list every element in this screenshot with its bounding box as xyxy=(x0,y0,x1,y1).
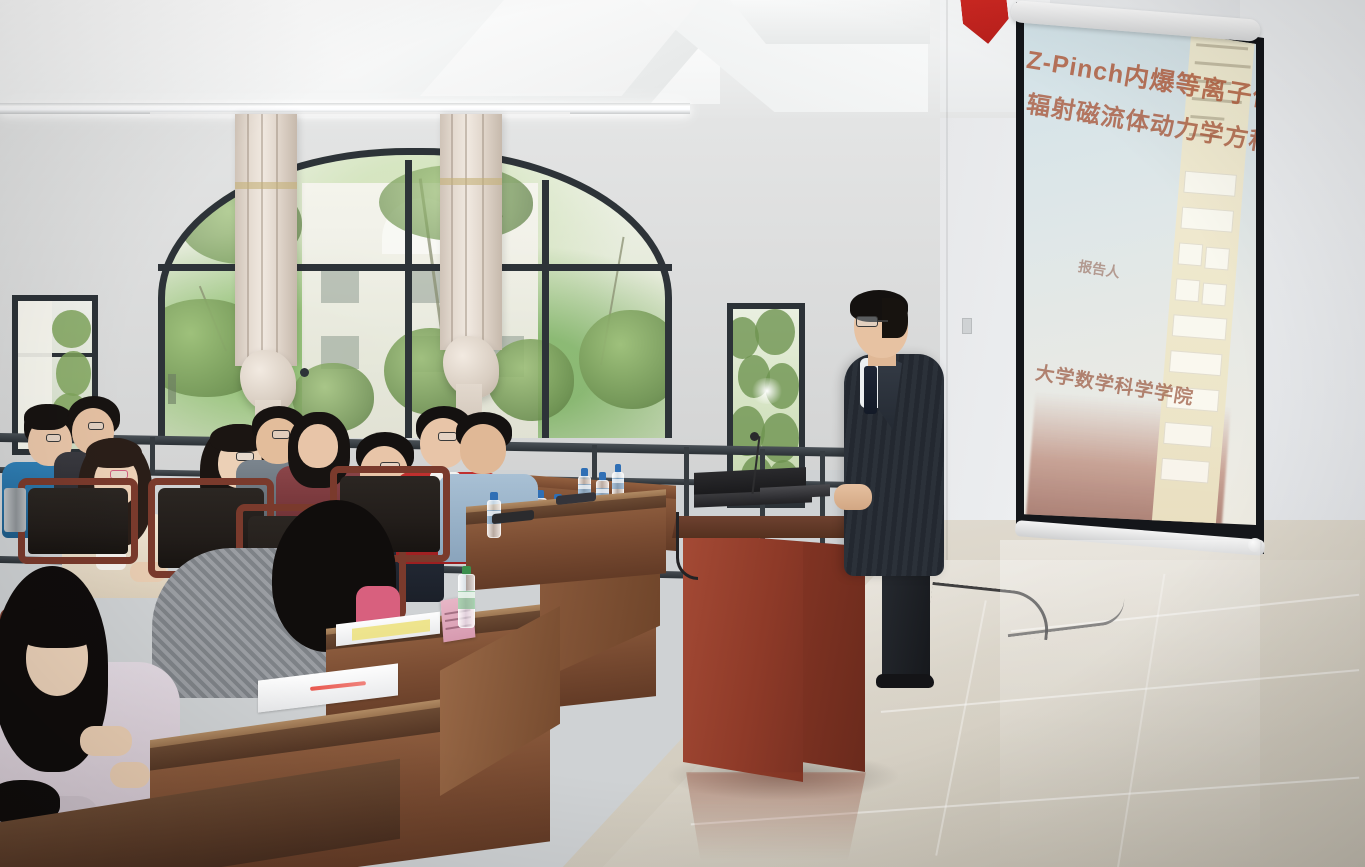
speaker-necktie xyxy=(864,366,877,414)
glasses-icon xyxy=(856,316,878,327)
lecture-hall-photo: Z-Pinch内爆等离子体二维 辐射磁流体动力学方程 报告人 大学数学科学学院 xyxy=(0,0,1365,867)
arched-window xyxy=(150,118,680,438)
curtain-left xyxy=(235,114,297,366)
podium-front-panel xyxy=(683,532,803,782)
slide-outline-item xyxy=(1172,314,1228,340)
cable-loop xyxy=(676,512,698,580)
person-head xyxy=(298,424,338,468)
glasses-icon xyxy=(88,422,104,430)
wall-highlight xyxy=(1000,540,1260,867)
slide-outline-item xyxy=(1160,458,1210,484)
person-hair xyxy=(86,438,142,468)
speaker-hand xyxy=(834,484,872,510)
slide-outline-item xyxy=(1183,171,1237,197)
glasses-bridge xyxy=(878,320,888,322)
slide-outline-item xyxy=(1163,422,1213,448)
water-bottle[interactable] xyxy=(458,566,475,628)
person-hand xyxy=(80,726,132,756)
microphone-icon[interactable] xyxy=(750,432,759,441)
slide-outline-item xyxy=(1175,278,1201,302)
speaker xyxy=(838,292,950,692)
thermos-cup[interactable] xyxy=(4,488,26,532)
wall-seam xyxy=(946,0,948,560)
slide-outline-item xyxy=(1169,350,1223,376)
slide-author: 报告人 xyxy=(1077,256,1122,282)
slide-outline-item xyxy=(1178,242,1204,266)
person-head xyxy=(460,424,506,474)
person-hair xyxy=(16,606,98,648)
wall-switch[interactable] xyxy=(962,318,972,334)
projection-screen-surface[interactable]: Z-Pinch内爆等离子体二维 辐射磁流体动力学方程 报告人 大学数学科学学院 xyxy=(1024,6,1256,541)
speaker-trousers xyxy=(882,558,930,682)
slide-outline-item xyxy=(1201,283,1227,307)
speaker-shoe xyxy=(876,674,934,688)
chair[interactable] xyxy=(18,478,138,568)
slide-outline-item xyxy=(1204,247,1230,271)
curtain-right xyxy=(440,114,502,350)
speaker-hair-side xyxy=(882,298,908,338)
window-handle-icon[interactable] xyxy=(300,368,309,377)
slide-outline-item xyxy=(1180,207,1234,233)
person-hand xyxy=(110,762,150,788)
podium-floor-reflection xyxy=(686,772,866,860)
light-reflector xyxy=(150,112,570,117)
